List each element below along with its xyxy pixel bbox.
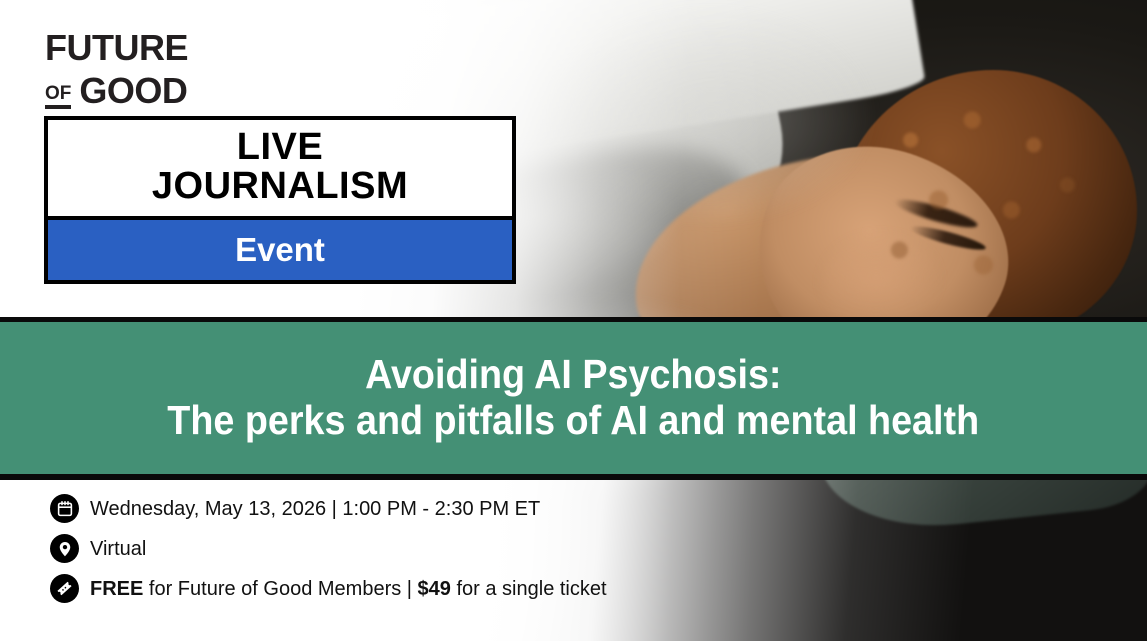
- badge-live-text: LIVE: [58, 128, 502, 167]
- calendar-icon: [50, 494, 79, 523]
- logo-of-text: OF: [45, 85, 71, 109]
- logo-second-line: OF GOOD: [45, 73, 188, 109]
- logo-good-text: GOOD: [79, 73, 187, 109]
- price-tail-text: for a single ticket: [451, 578, 607, 600]
- detail-row-price: FREE for Future of Good Members | $49 fo…: [50, 574, 607, 603]
- detail-location-text: Virtual: [90, 537, 146, 561]
- detail-date-text: Wednesday, May 13, 2026 | 1:00 PM - 2:30…: [90, 497, 540, 521]
- detail-row-location: Virtual: [50, 534, 607, 563]
- future-of-good-logo: FUTURE OF GOOD: [45, 30, 188, 109]
- logo-future-text: FUTURE: [45, 30, 188, 66]
- title-line-1: Avoiding AI Psychosis:: [365, 352, 781, 398]
- price-middle-text: for Future of Good Members |: [143, 578, 417, 600]
- price-amount-label: $49: [418, 578, 451, 600]
- detail-row-date: Wednesday, May 13, 2026 | 1:00 PM - 2:30…: [50, 494, 607, 523]
- title-line-2: The perks and pitfalls of AI and mental …: [168, 398, 980, 444]
- event-details-list: Wednesday, May 13, 2026 | 1:00 PM - 2:30…: [50, 494, 607, 603]
- location-pin-icon: [50, 534, 79, 563]
- price-free-label: FREE: [90, 578, 143, 600]
- event-promo-poster: FUTURE OF GOOD LIVE JOURNALISM Event Avo…: [0, 0, 1147, 641]
- live-journalism-badge: LIVE JOURNALISM Event: [44, 116, 516, 284]
- detail-price-text: FREE for Future of Good Members | $49 fo…: [90, 577, 607, 601]
- title-banner: Avoiding AI Psychosis: The perks and pit…: [0, 317, 1147, 480]
- badge-event-label: Event: [235, 231, 325, 268]
- badge-event-section: Event: [48, 216, 512, 280]
- badge-top-section: LIVE JOURNALISM: [48, 120, 512, 216]
- ticket-icon: [50, 574, 79, 603]
- badge-journalism-text: JOURNALISM: [58, 167, 502, 206]
